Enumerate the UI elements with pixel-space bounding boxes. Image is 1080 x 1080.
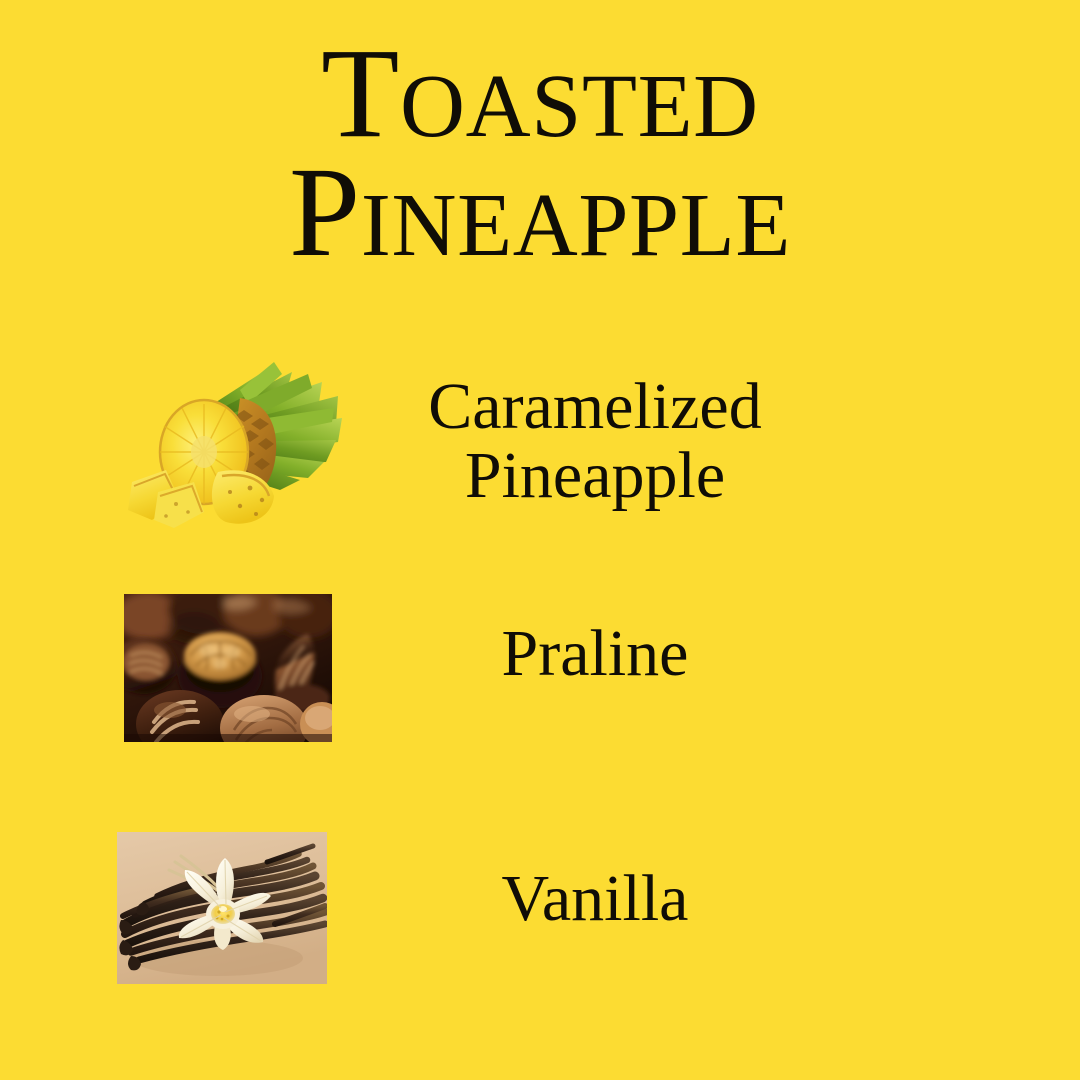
walnut [184, 632, 256, 680]
title-line-pineapple: Pineapple [0, 153, 1080, 272]
praline-chocolates-photo [124, 594, 332, 742]
ingredient-label-vanilla: Vanilla [350, 864, 840, 933]
pineapple-photo [122, 360, 344, 532]
ingredient-label-praline: Praline [350, 619, 840, 688]
pineapple-illustration [122, 360, 344, 532]
ingredient-row-pineapple: Caramelized Pineapple [0, 352, 1080, 552]
page-title: Toasted Pineapple [0, 34, 1080, 272]
praline-illustration [124, 594, 332, 742]
ingredient-label-pineapple: Caramelized Pineapple [350, 372, 840, 511]
ingredient-row-vanilla: Vanilla [0, 832, 1080, 992]
product-flavor-poster: Toasted Pineapple [0, 0, 1080, 1080]
vanilla-beans-photo [117, 832, 327, 984]
vanilla-illustration [117, 832, 327, 984]
ingredient-row-praline: Praline [0, 592, 1080, 752]
title-line-toasted: Toasted [0, 34, 1080, 153]
